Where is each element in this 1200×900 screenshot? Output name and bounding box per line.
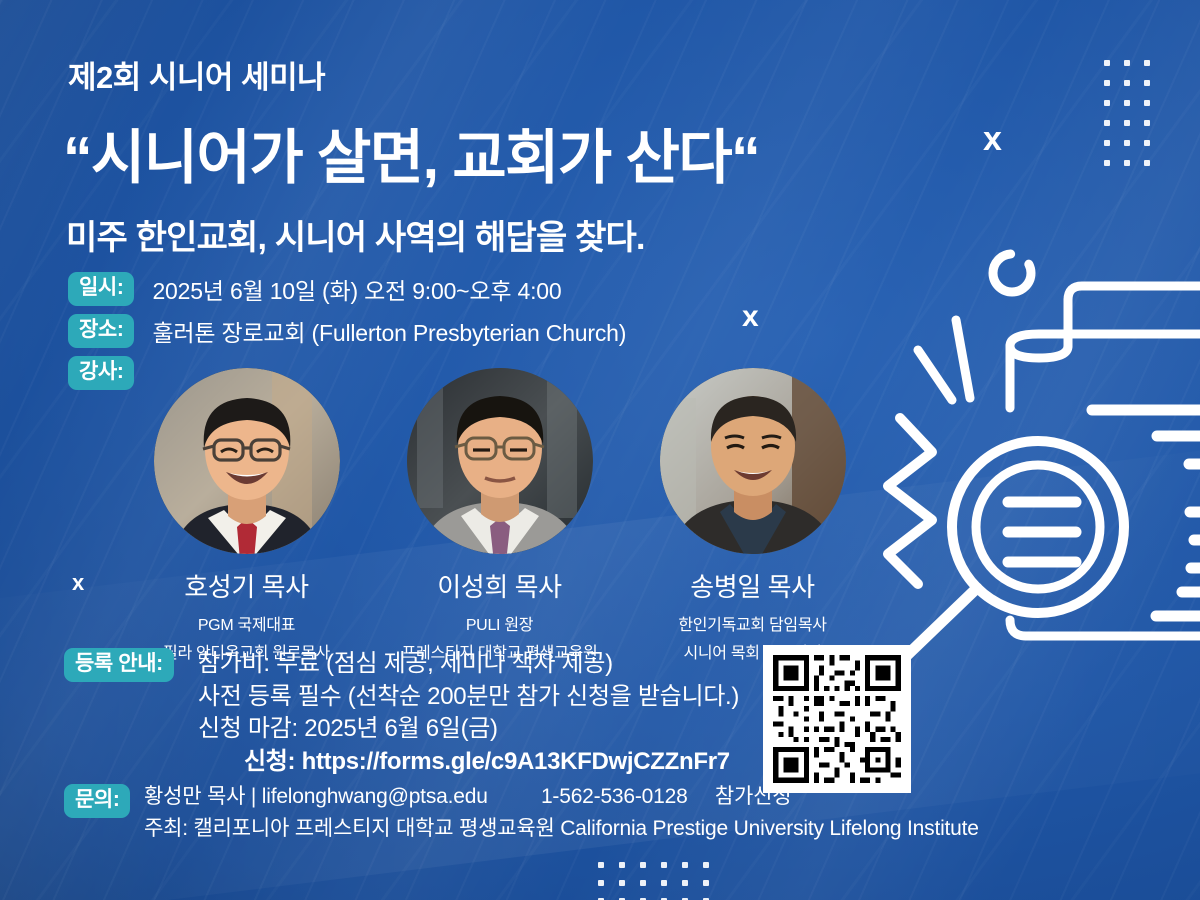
date-label-badge: 일시: bbox=[68, 272, 134, 306]
registration-line: 신청 마감: 2025년 6월 6일(금) bbox=[198, 713, 739, 746]
contact-label-badge: 문의: bbox=[64, 784, 130, 818]
registration-details: 참가비: 무료 (점심 제공, 세미나 책자 제공) 사전 등록 필수 (선착순… bbox=[198, 648, 739, 779]
speaker-role-primary: 한인기독교회 담임목사 bbox=[678, 611, 826, 635]
kicker-text: 제2회 시니어 세미나 bbox=[68, 52, 325, 97]
avatar bbox=[660, 368, 846, 554]
qr-code[interactable] bbox=[763, 645, 911, 793]
registration-apply-link[interactable]: 신청: https://forms.gle/c9A13KFDwjCZZnFr7 bbox=[198, 746, 739, 779]
subtitle: 미주 한인교회, 시니어 사역의 해답을 찾다. bbox=[66, 210, 645, 259]
speaker-name: 송병일 목사 bbox=[690, 567, 814, 604]
registration-line: 사전 등록 필수 (선착순 200분만 참가 신청을 받습니다.) bbox=[198, 681, 739, 714]
speaker-name: 호성기 목사 bbox=[184, 567, 308, 604]
place-label-badge: 장소: bbox=[68, 314, 134, 348]
speaker-name: 이성희 목사 bbox=[437, 567, 561, 604]
contact-details: 황성만 목사 | lifelonghwang@ptsa.edu 1-562-53… bbox=[144, 782, 791, 812]
speaker-list: 호성기 목사 PGM 국제대표 필라 안디옥교회 원로목사 bbox=[120, 368, 880, 663]
host-line: 주최: 캘리포니아 프레스티지 대학교 평생교육원 California Pre… bbox=[144, 812, 979, 842]
contact-person: 황성만 목사 | lifelonghwang@ptsa.edu bbox=[144, 785, 488, 808]
page-title: “시니어가 살면, 교회가 산다“ bbox=[63, 110, 759, 195]
contact-phone: 1-562-536-0128 bbox=[541, 785, 688, 808]
speaker-card: 이성희 목사 PULI 원장 프레스티지 대학교 평생교육원 bbox=[373, 368, 626, 663]
info-row-place: 장소: 훌러톤 장로교회 (Fullerton Presbyterian Chu… bbox=[68, 314, 626, 348]
speaker-card: 송병일 목사 한인기독교회 담임목사 시니어 목회 프로세서 bbox=[626, 368, 879, 663]
contact-line: 황성만 목사 | lifelonghwang@ptsa.edu 1-562-53… bbox=[144, 782, 791, 812]
speaker-role-primary: PULI 원장 bbox=[466, 611, 533, 635]
poster-content: 제2회 시니어 세미나 “시니어가 살면, 교회가 산다“ 미주 한인교회, 시… bbox=[0, 0, 1200, 900]
speaker-role-primary: PGM 국제대표 bbox=[198, 611, 295, 635]
contact-apply-text[interactable]: 참가신청 bbox=[715, 785, 791, 808]
poster-canvas: x x x bbox=[0, 0, 1200, 900]
registration-label-badge: 등록 안내: bbox=[64, 648, 174, 682]
avatar bbox=[154, 368, 340, 554]
speaker-card: 호성기 목사 PGM 국제대표 필라 안디옥교회 원로목사 bbox=[120, 368, 373, 663]
avatar bbox=[407, 368, 593, 554]
place-value: 훌러톤 장로교회 (Fullerton Presbyterian Church) bbox=[152, 314, 626, 348]
info-row-date: 일시: 2025년 6월 10일 (화) 오전 9:00~오후 4:00 bbox=[68, 272, 561, 306]
registration-line: 참가비: 무료 (점심 제공, 세미나 책자 제공) bbox=[198, 648, 739, 681]
date-value: 2025년 6월 10일 (화) 오전 9:00~오후 4:00 bbox=[152, 272, 561, 306]
